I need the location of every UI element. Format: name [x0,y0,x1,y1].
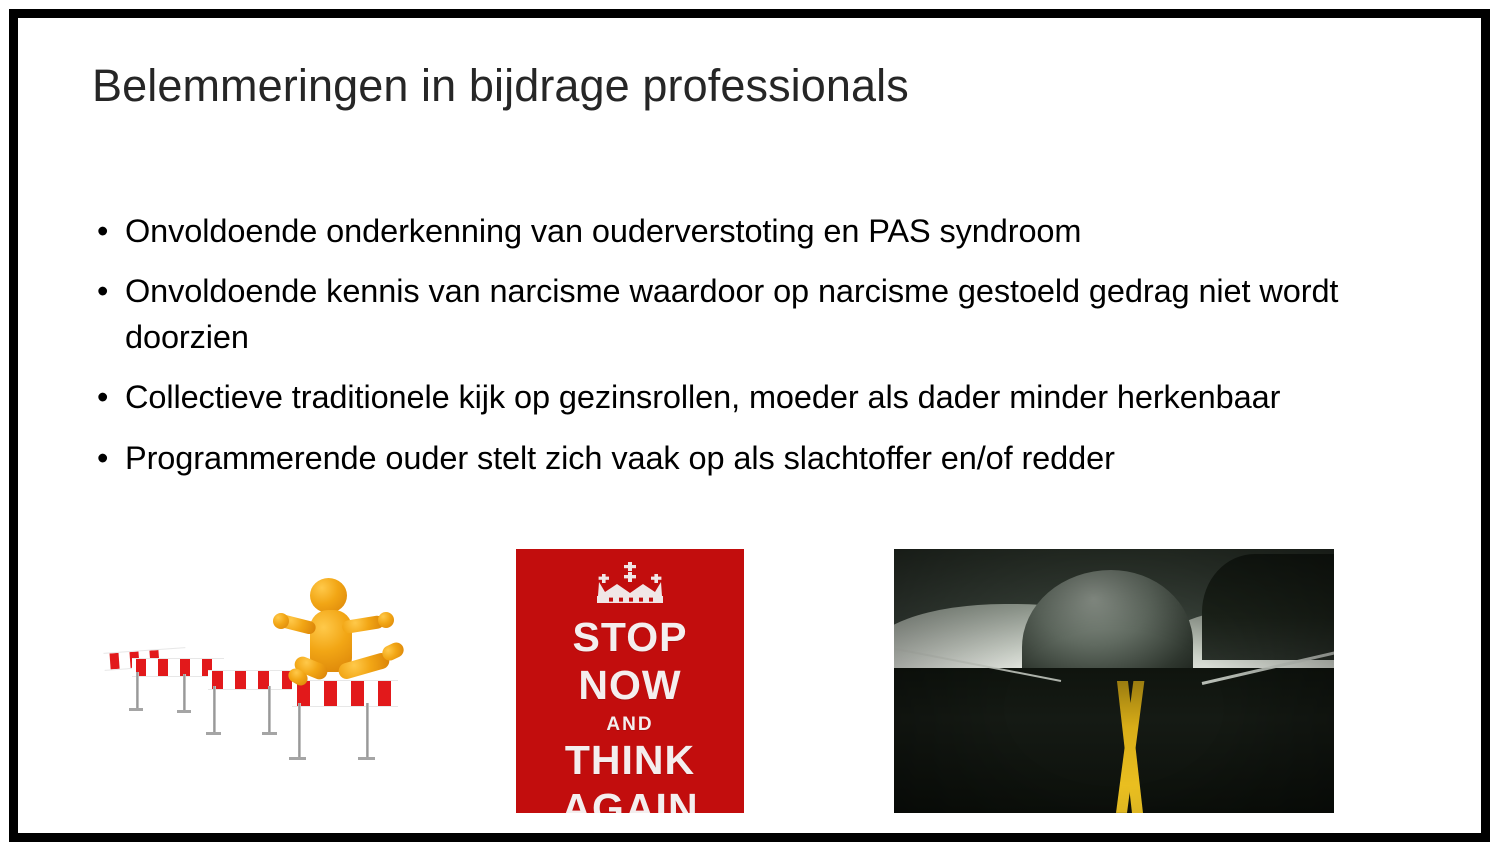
slide: Belemmeringen in bijdrage professionals … [0,0,1499,851]
list-item: • Programmerende ouder stelt zich vaak o… [92,435,1367,481]
bullet-icon: • [97,374,108,420]
bullet-icon: • [97,435,108,481]
hurdle-foot [358,757,375,760]
poster-line-and: AND [516,715,744,734]
stop-now-think-again-poster: STOP NOW AND THINK AGAIN [516,549,744,813]
hurdles-clipart-image [96,552,426,814]
hurdle-leg [213,686,216,734]
list-item: • Onvoldoende onderkenning van oudervers… [92,208,1367,254]
hurdle-foot [289,757,306,760]
hurdle-foot [262,732,277,735]
orange-runner-figure [282,574,422,754]
list-item: • Collectieve traditionele kijk op gezin… [92,374,1367,420]
list-item-label: Programmerende ouder stelt zich vaak op … [125,440,1115,476]
runner-hand-left [273,613,289,629]
crown-icon [593,562,667,606]
poster-line-stop: STOP [516,617,744,658]
hurdle-foot [177,710,191,713]
road-vignette [894,549,1334,813]
runner-hand-right [378,612,394,628]
poster-line-now: NOW [516,665,744,706]
poster-line-again: AGAIN [516,788,744,813]
hurdle-foot [206,732,221,735]
list-item-label: Collectieve traditionele kijk op gezinsr… [125,379,1280,415]
bullet-icon: • [97,208,108,254]
list-item: • Onvoldoende kennis van narcisme waardo… [92,268,1367,360]
bullet-list: • Onvoldoende onderkenning van oudervers… [92,208,1367,481]
list-item-label: Onvoldoende kennis van narcisme waardoor… [125,273,1338,355]
list-item-label: Onvoldoende onderkenning van ouderversto… [125,213,1081,249]
poster-line-think: THINK [516,740,744,781]
hurdle-foot [129,708,143,711]
runner-head [310,578,347,613]
hurdle-leg [183,674,186,712]
hurdle-leg [136,672,139,710]
bullet-icon: • [97,268,108,314]
page-title: Belemmeringen in bijdrage professionals [92,60,1392,112]
hurdle-leg [268,686,271,734]
boulder-blocking-road-image [894,549,1334,813]
